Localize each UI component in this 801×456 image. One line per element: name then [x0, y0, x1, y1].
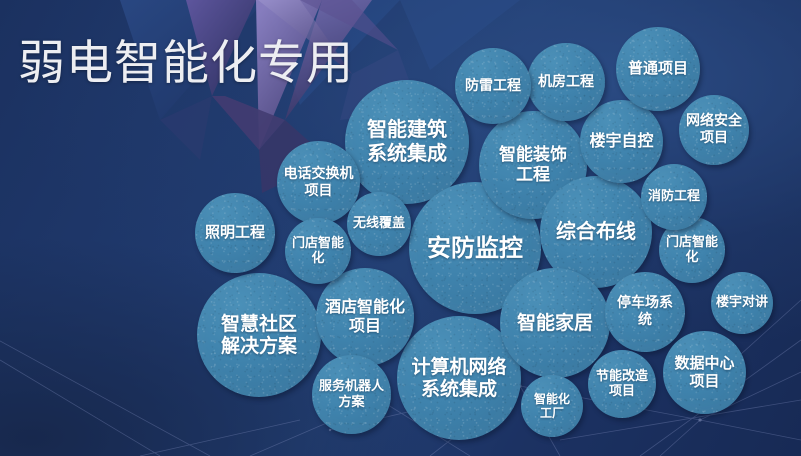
bubble-label: 停车场系 统: [612, 295, 678, 328]
bubble-fanglei-gongcheng[interactable]: 防雷工程: [455, 48, 531, 124]
bubble-putong-xiangmu[interactable]: 普通项目: [616, 27, 700, 111]
bubble-zhihui-shequ-jiejue-fangan[interactable]: 智慧社区 解决方案: [197, 273, 321, 397]
slide-canvas: 弱电智能化专用 智能建筑 系统集成安防监控智慧社区 解决方案计算机网络 系统集成…: [0, 0, 801, 456]
bubble-louyu-zikong[interactable]: 楼宇自控: [580, 100, 663, 183]
bubble-label: 节能改造 项目: [591, 369, 653, 400]
bubble-label: 酒店智能化 项目: [320, 298, 410, 336]
bubble-xiaofang-gongcheng[interactable]: 消防工程: [641, 164, 707, 230]
bubble-zhineng-jiaju[interactable]: 智能家居: [500, 268, 610, 378]
bubble-label: 电话交换机 项目: [279, 166, 359, 199]
bubble-label: 智能建筑 系统集成: [362, 118, 452, 165]
bubble-label: 计算机网络 系统集成: [406, 356, 511, 401]
bubble-jifang-gongcheng[interactable]: 机房工程: [527, 43, 605, 121]
bubble-label: 综合布线: [551, 220, 641, 244]
bubble-zhaoming-gongcheng[interactable]: 照明工程: [195, 193, 275, 273]
bubble-label: 智慧社区 解决方案: [216, 313, 302, 358]
bubble-label: 门店智能 化: [661, 235, 723, 266]
bubble-zhinenghua-gongchang[interactable]: 智能化 工厂: [521, 375, 583, 437]
bubble-jieneng-gaizao-xiangmu[interactable]: 节能改造 项目: [588, 350, 656, 418]
bubble-jiudian-zhinenghua-xiangmu[interactable]: 酒店智能化 项目: [316, 268, 414, 366]
bubble-label: 机房工程: [533, 74, 599, 91]
bubble-label: 消防工程: [643, 189, 705, 204]
bubble-label: 楼宇自控: [584, 132, 658, 151]
bubble-label: 网络安全 项目: [681, 113, 747, 146]
bubble-shuju-zhongxin-xiangmu[interactable]: 数据中心 项目: [663, 331, 746, 414]
bubble-label: 门店智能 化: [287, 236, 349, 267]
bubble-mendian-zhinenghua-left[interactable]: 门店智能 化: [285, 218, 351, 284]
bubble-label: 智能化 工厂: [529, 392, 575, 420]
bubble-label: 照明工程: [200, 224, 270, 242]
bubble-label: 数据中心 项目: [669, 355, 739, 390]
bubble-wuxian-fugai[interactable]: 无线覆盖: [347, 192, 411, 256]
bubble-fuwu-jiqiren-fangan[interactable]: 服务机器人 方案: [312, 355, 391, 434]
bubble-label: 服务机器人 方案: [314, 379, 389, 410]
bubble-louyu-duijiang[interactable]: 楼宇对讲: [711, 272, 773, 334]
bubble-tingchechang-xitong[interactable]: 停车场系 统: [605, 272, 685, 352]
bubble-label: 智能家居: [512, 312, 598, 334]
bubble-label: 普通项目: [623, 60, 693, 78]
bubble-label: 无线覆盖: [348, 216, 410, 231]
bubble-label: 楼宇对讲: [711, 295, 773, 310]
bubble-label: 安防监控: [422, 234, 528, 262]
bubble-label: 智能装饰 工程: [494, 145, 572, 185]
slide-title: 弱电智能化专用: [18, 24, 354, 93]
bubble-wangluo-anquan-xiangmu[interactable]: 网络安全 项目: [679, 95, 749, 165]
bubble-label: 防雷工程: [460, 78, 526, 95]
bubble-dianhua-jiaohuanji-xiangmu[interactable]: 电话交换机 项目: [277, 141, 360, 224]
